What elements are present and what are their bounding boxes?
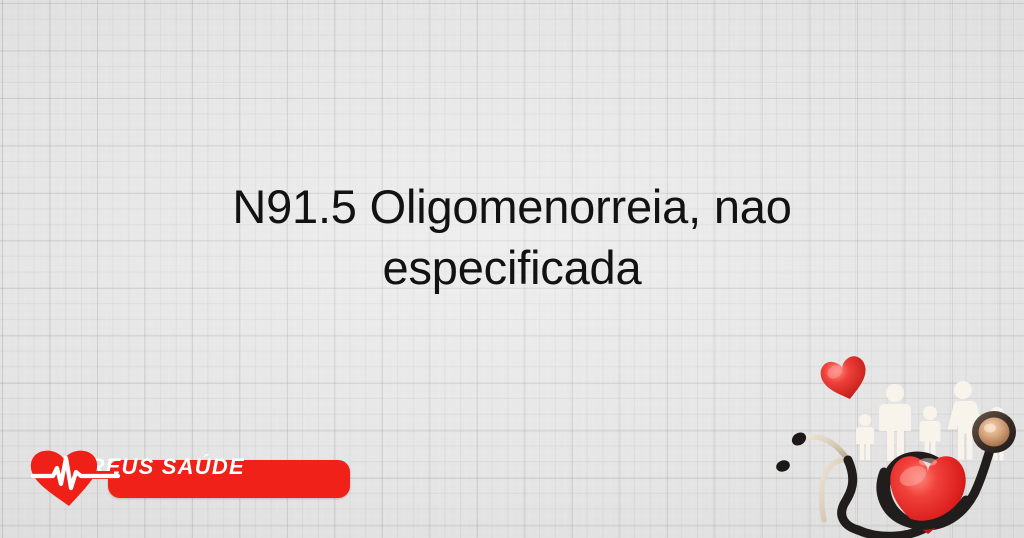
small-heart-icon <box>818 354 872 404</box>
chestpiece-icon <box>972 411 1016 453</box>
page-title: N91.5 Oligomenorreia, nao especificada <box>104 176 920 298</box>
stethoscope-family-hearts-illustration <box>772 344 1024 538</box>
heart-pulse-icon <box>28 448 138 510</box>
image-canvas: N91.5 Oligomenorreia, nao especificada C… <box>0 0 1024 538</box>
brand-logo: COREUS SAÚDE <box>28 448 350 510</box>
